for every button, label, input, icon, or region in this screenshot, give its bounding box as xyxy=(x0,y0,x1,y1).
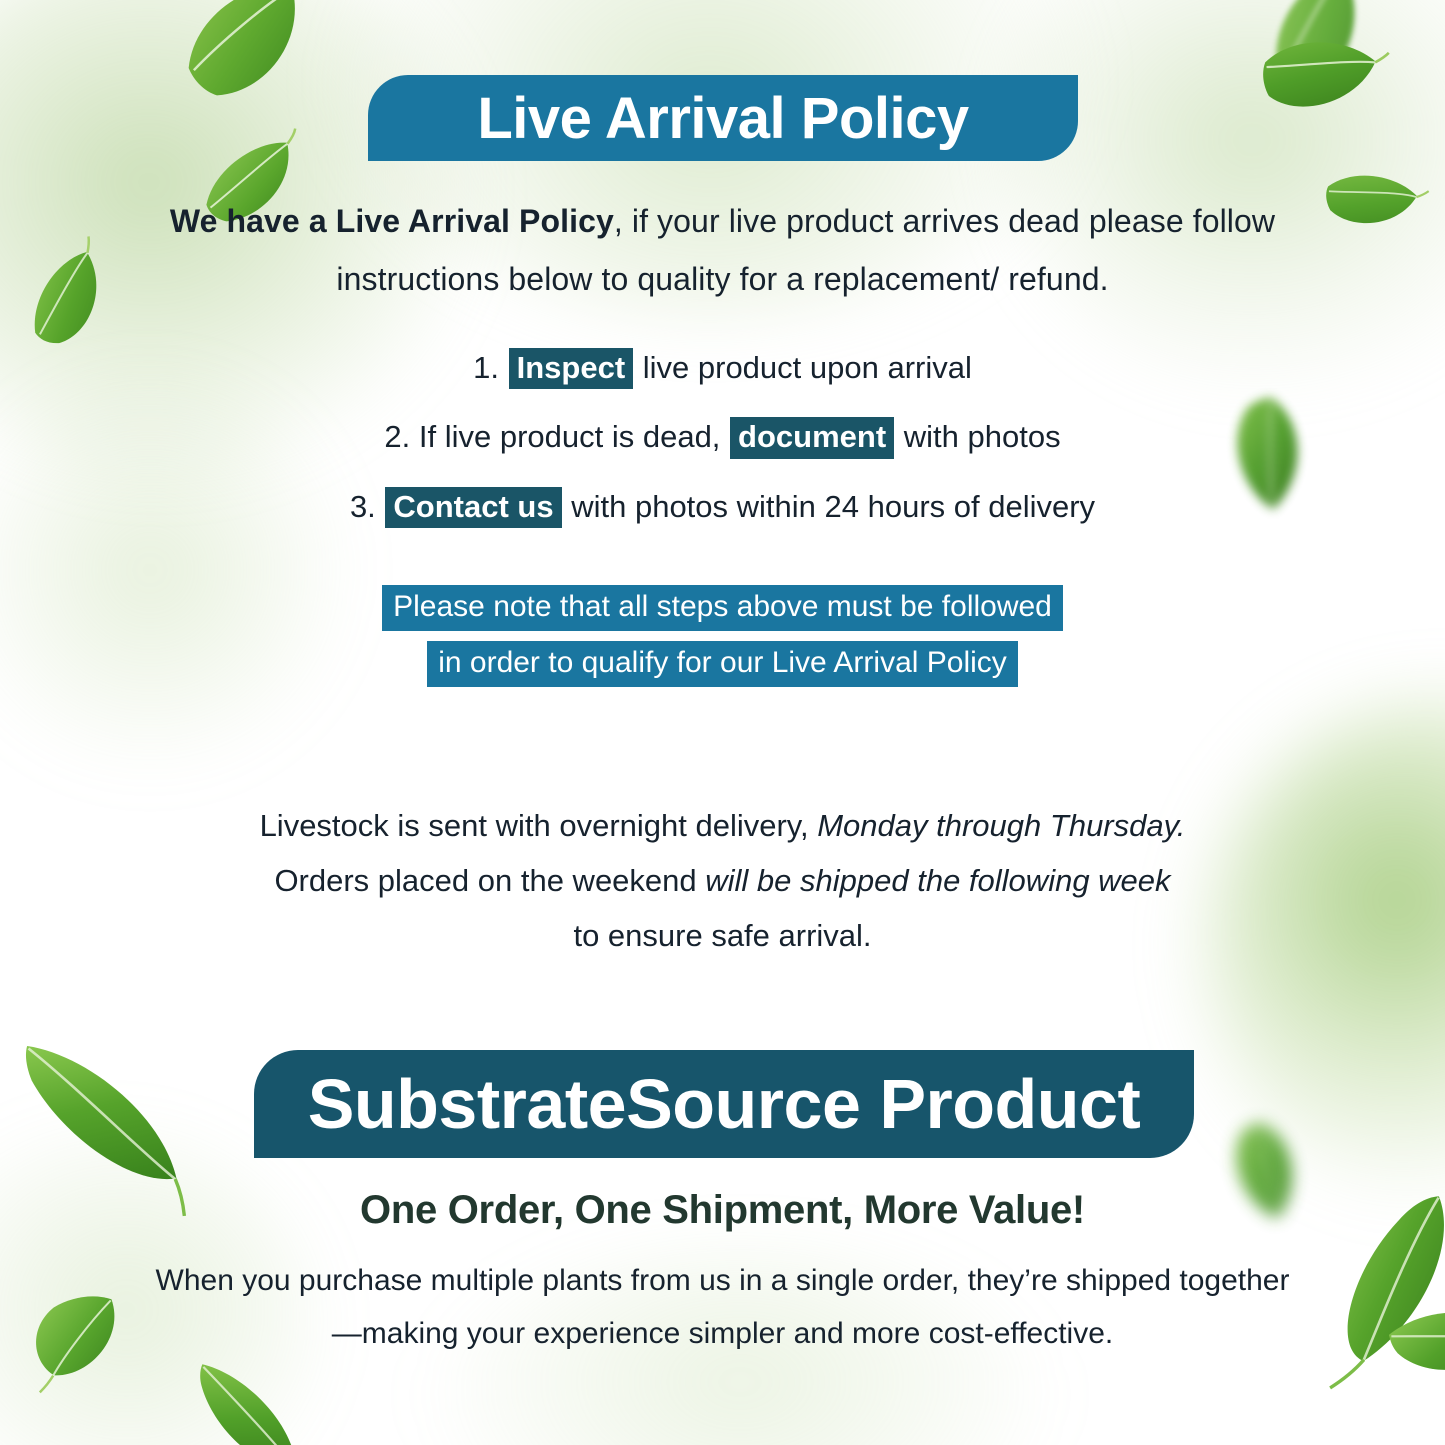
policy-steps-list: 1. Inspect live product upon arrival 2. … xyxy=(155,348,1290,556)
live-arrival-policy-graphic: Live Arrival Policy We have a Live Arriv… xyxy=(0,0,1445,1445)
policy-note-block: Please note that all steps above must be… xyxy=(155,585,1290,697)
product-subheading: One Order, One Shipment, More Value! xyxy=(155,1188,1290,1233)
policy-step-2-number: 2. xyxy=(384,419,410,454)
policy-step-2-after: with photos xyxy=(895,419,1060,454)
policy-step-3-highlight: Contact us xyxy=(385,487,561,528)
shipping-line2-italic: will be shipped the following week xyxy=(705,863,1170,898)
shipping-schedule-paragraph: Livestock is sent with overnight deliver… xyxy=(155,798,1290,964)
shipping-line1-plain: Livestock is sent with overnight deliver… xyxy=(260,808,818,843)
policy-step-3-before xyxy=(376,489,385,524)
policy-note-line-1: Please note that all steps above must be… xyxy=(382,585,1063,631)
policy-step-1-number: 1. xyxy=(473,350,499,385)
policy-intro-bold: We have a Live Arrival Policy xyxy=(170,203,614,239)
policy-step-2-before: If live product is dead, xyxy=(410,419,729,454)
policy-step-3-after: with photos within 24 hours of delivery xyxy=(563,489,1095,524)
substratesource-product-title: SubstrateSource Product xyxy=(308,1064,1141,1144)
policy-step-3-number: 3. xyxy=(350,489,376,524)
policy-step-2-highlight: document xyxy=(730,417,894,458)
product-body-paragraph: When you purchase multiple plants from u… xyxy=(150,1255,1295,1360)
substratesource-product-banner: SubstrateSource Product xyxy=(254,1050,1194,1158)
live-arrival-policy-banner: Live Arrival Policy xyxy=(368,75,1078,161)
policy-step-1: 1. Inspect live product upon arrival xyxy=(155,348,1290,389)
policy-intro-paragraph: We have a Live Arrival Policy, if your l… xyxy=(155,192,1290,308)
shipping-line3-plain: to ensure safe arrival. xyxy=(573,918,871,953)
policy-step-1-highlight: Inspect xyxy=(509,348,634,389)
live-arrival-policy-title: Live Arrival Policy xyxy=(477,85,968,152)
shipping-line2-plain: Orders placed on the weekend xyxy=(274,863,705,898)
policy-note-line-2: in order to qualify for our Live Arrival… xyxy=(427,641,1018,687)
policy-step-1-after: live product upon arrival xyxy=(634,350,972,385)
policy-step-2: 2. If live product is dead, document wit… xyxy=(155,417,1290,458)
shipping-line1-italic: Monday through Thursday. xyxy=(817,808,1185,843)
policy-step-3: 3. Contact us with photos within 24 hour… xyxy=(155,487,1290,528)
